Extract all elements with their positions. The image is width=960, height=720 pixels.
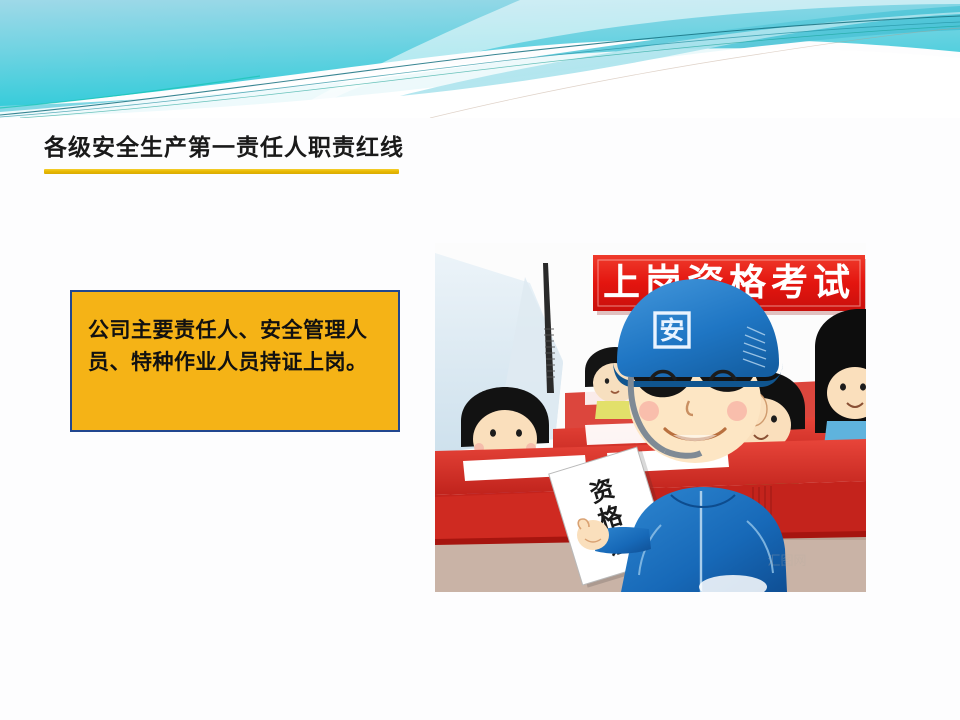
certification-exam-illustration: 上岗资格考试 <box>435 243 866 592</box>
callout-box: 公司主要责任人、安全管理人员、特种作业人员持证上岗。 <box>70 290 400 432</box>
teal-wave-banner <box>0 0 960 118</box>
title-underline <box>44 169 399 174</box>
svg-text:汇图网: 汇图网 <box>767 553 806 568</box>
presentation-slide: 各级安全生产第一责任人职责红线 公司主要责任人、安全管理人员、特种作业人员持证上… <box>0 0 960 720</box>
svg-text:安: 安 <box>659 316 684 345</box>
page-title: 各级安全生产第一责任人职责红线 <box>44 130 564 164</box>
callout-text: 公司主要责任人、安全管理人员、特种作业人员持证上岗。 <box>88 314 390 378</box>
title-block: 各级安全生产第一责任人职责红线 <box>44 130 564 174</box>
watermark-graphic: 汇图网 <box>767 553 806 568</box>
helmet-emblem-icon: 安 <box>655 313 689 347</box>
